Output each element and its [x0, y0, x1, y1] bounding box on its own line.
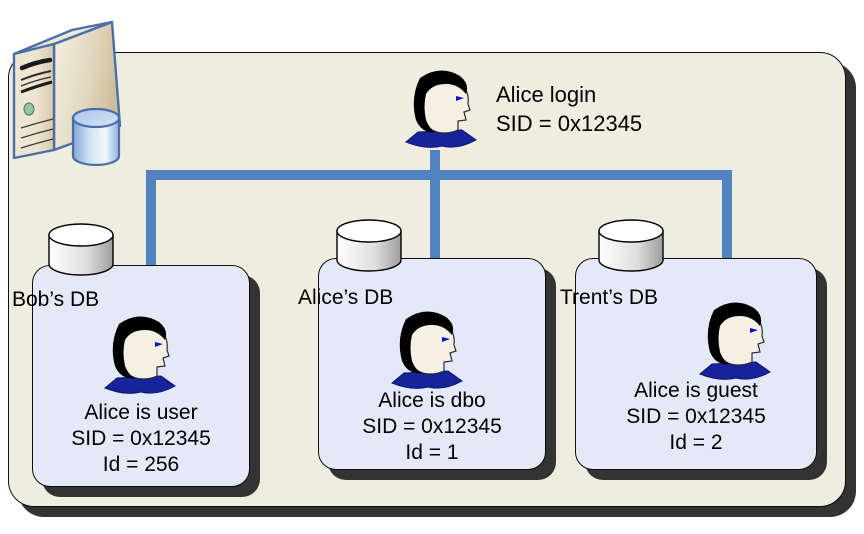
database-cylinder-icon [73, 109, 119, 165]
db-details-trents: Alice is guest SID = 0x12345 Id = 2 [575, 378, 817, 456]
person-profile-icon [95, 310, 187, 396]
person-profile-icon [396, 62, 488, 158]
db-label-bobs: Bob’s DB [12, 288, 99, 312]
diagram-canvas: Bob’s DB Alice is user SID = 0x12345 Id … [0, 0, 864, 529]
db-sid-line: SID = 0x12345 [575, 404, 817, 430]
database-cylinder-icon [333, 218, 405, 274]
person-profile-icon [382, 305, 474, 391]
db-details-bobs: Alice is user SID = 0x12345 Id = 256 [32, 400, 250, 478]
login-details: Alice login SID = 0x12345 [496, 80, 642, 138]
person-profile-icon [690, 296, 782, 382]
db-details-alices: Alice is dbo SID = 0x12345 Id = 1 [318, 388, 546, 466]
login-name-line: Alice login [496, 80, 642, 109]
db-sid-line: SID = 0x12345 [318, 414, 546, 440]
db-sid-line: SID = 0x12345 [32, 426, 250, 452]
database-cylinder-icon [45, 222, 117, 278]
server-tower-icon [2, 8, 124, 168]
database-cylinder-icon [595, 218, 667, 274]
db-id-line: Id = 256 [32, 452, 250, 478]
db-label-trents: Trent’s DB [560, 286, 658, 310]
db-role-line: Alice is guest [575, 378, 817, 404]
db-role-line: Alice is user [32, 400, 250, 426]
login-sid-line: SID = 0x12345 [496, 109, 642, 138]
db-id-line: Id = 1 [318, 440, 546, 466]
db-label-alices: Alice’s DB [298, 286, 393, 310]
db-id-line: Id = 2 [575, 430, 817, 456]
db-role-line: Alice is dbo [318, 388, 546, 414]
